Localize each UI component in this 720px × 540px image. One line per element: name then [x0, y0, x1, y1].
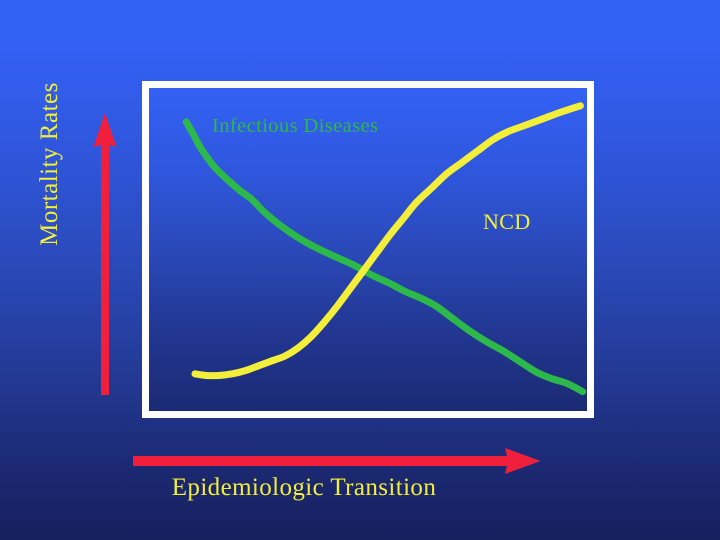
y-axis-label: Mortality Rates — [36, 54, 64, 274]
chart-frame: Infectious Diseases NCD — [142, 81, 594, 418]
series-label-infectious-diseases: Infectious Diseases — [212, 115, 378, 138]
slide-canvas: Mortality Rates Infectious Diseases NCD … — [0, 0, 720, 540]
right-arrow-icon — [133, 448, 541, 474]
plot-area: Infectious Diseases NCD — [149, 88, 587, 411]
series-label-ncd: NCD — [483, 209, 531, 235]
series-line-ncd — [195, 106, 580, 376]
up-arrow-icon — [93, 113, 117, 395]
y-axis: Mortality Rates — [0, 0, 142, 540]
x-axis-label: Epidemiologic Transition — [0, 474, 720, 502]
series-line-infectious-diseases — [186, 122, 582, 392]
